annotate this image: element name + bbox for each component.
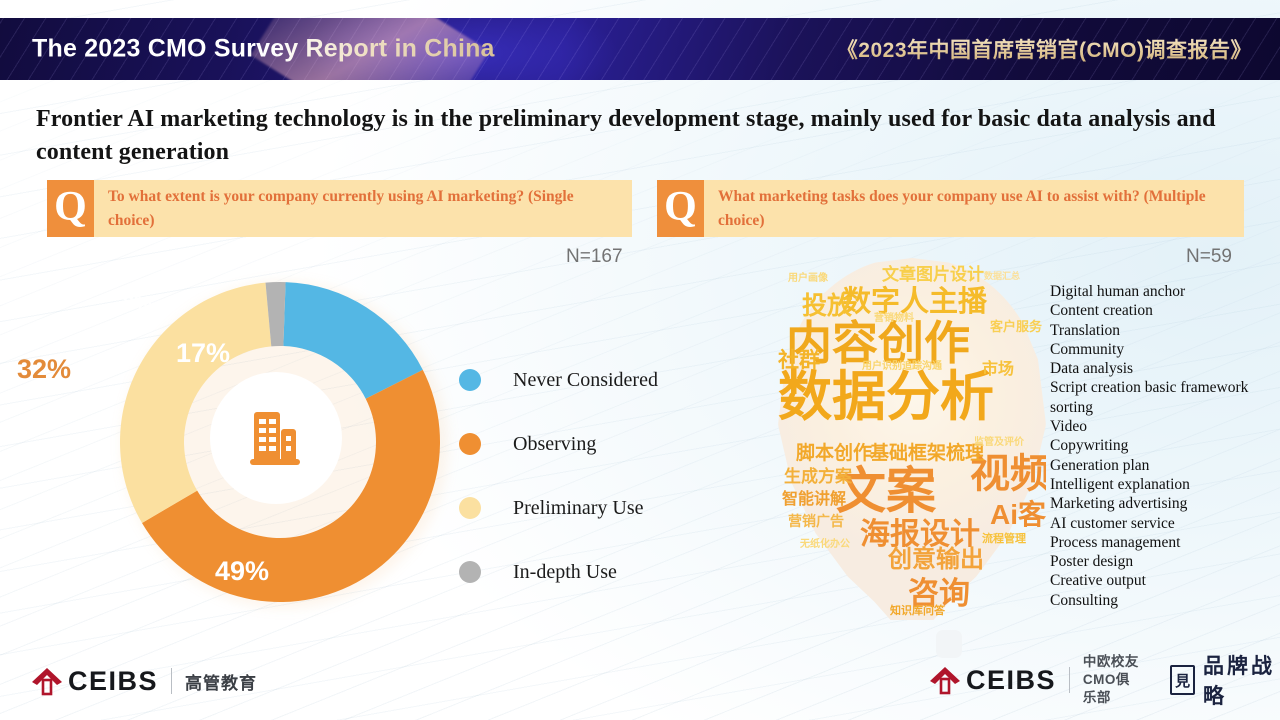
wordcloud-word: Ai客服 (990, 501, 1046, 529)
legend-label: Preliminary Use (513, 497, 644, 520)
translation-item: Content creation (1050, 301, 1280, 320)
translation-item: Script creation basic framework (1050, 378, 1280, 397)
donut-center-hole (210, 372, 342, 504)
translation-item: Data analysis (1050, 359, 1280, 378)
wordcloud-word: 文章图片设计 (882, 266, 984, 283)
question-banner-1: Q To what extent is your company current… (47, 180, 632, 237)
ceibs-wordmark-left: CEIBS (68, 666, 158, 697)
question-text-2: What marketing tasks does your company u… (704, 180, 1244, 237)
wordcloud-word: 知识库问答 (890, 606, 945, 617)
slide-root: The 2023 CMO Survey Report in China 《202… (0, 0, 1280, 720)
translation-item: Community (1050, 340, 1280, 359)
wordcloud-word: 营销广告 (788, 514, 844, 528)
header-title-en: The 2023 CMO Survey Report in China (32, 35, 495, 64)
header-banner: The 2023 CMO Survey Report in China 《202… (0, 18, 1280, 80)
ceibs-roof-icon (928, 665, 962, 695)
wordcloud-word: 智能讲解 (782, 492, 846, 508)
sample-size-2: N=59 (1186, 246, 1232, 268)
wordcloud-word: 数据分析 (778, 370, 994, 424)
translation-item: Intelligent explanation (1050, 475, 1280, 494)
footer-decoration-square (936, 630, 962, 658)
donut-chart (100, 268, 460, 620)
footer-club-name: 中欧校友 CMO俱乐部 (1083, 653, 1143, 708)
legend-item-never-considered[interactable]: Never Considered (459, 348, 709, 412)
wordcloud-word: 监管及评价 (974, 438, 1024, 448)
translation-item: Consulting (1050, 591, 1280, 610)
sample-size-1: N=167 (566, 246, 623, 268)
translation-item: Copywriting (1050, 436, 1280, 455)
footer-divider-right (1069, 667, 1070, 693)
translation-item: Process management (1050, 533, 1280, 552)
wordcloud-word: 市场 (982, 362, 1014, 378)
translation-item: Poster design (1050, 552, 1280, 571)
wordcloud-word: 流程管理 (982, 534, 1026, 545)
footer-club-line1: 中欧校友 (1083, 653, 1143, 671)
legend-color-swatch (459, 369, 481, 391)
legend-label: Observing (513, 433, 596, 456)
slice-label-never-considered: 17% (176, 338, 230, 369)
wordcloud-word: 营销物料 (874, 314, 914, 324)
wordcloud-words: 内容创作数据分析文案数字人主播视频海报设计咨询创意输出Ai客服投放社群文章图片设… (778, 258, 1046, 620)
translation-item: Creative output (1050, 571, 1280, 590)
footer-club-line2: CMO俱乐部 (1083, 671, 1143, 707)
building-icon (240, 402, 312, 474)
legend-color-swatch (459, 561, 481, 583)
wordcloud-word: 客户服务 (990, 320, 1042, 333)
partner-logo-name: 品牌战略 (1203, 650, 1280, 710)
slice-label-observing: 49% (215, 556, 269, 587)
wordcloud-word: 数字人主播 (842, 288, 987, 317)
wordcloud-word: 用户画像 (788, 274, 828, 284)
slice-label-preliminary-use: 32% (17, 354, 71, 385)
wordcloud-word: 用户识别追踪沟通 (862, 362, 942, 372)
footer-logo-left: CEIBS 高管教育 (30, 661, 257, 701)
translation-item: sorting (1050, 398, 1280, 417)
ceibs-wordmark-right: CEIBS (966, 665, 1056, 696)
translation-item: Marketing advertising (1050, 494, 1280, 513)
translation-item: Digital human anchor (1050, 282, 1280, 301)
footer-divider-left (171, 668, 172, 694)
wordcloud-word: 数据汇总 (984, 272, 1020, 281)
translation-item: Generation plan (1050, 456, 1280, 475)
question-banner-2: Q What marketing tasks does your company… (657, 180, 1244, 237)
wordcloud-word: 脚本创作 (796, 444, 872, 463)
translation-item: AI customer service (1050, 514, 1280, 533)
wordcloud-translation-list: Digital human anchorContent creationTran… (1050, 282, 1280, 610)
ceibs-roof-icon (30, 666, 64, 696)
translation-item: Video (1050, 417, 1280, 436)
wordcloud-word: 创意输出 (888, 548, 984, 572)
wordcloud-word: 投放 (802, 294, 852, 319)
wordcloud-word: 无纸化办公 (800, 540, 850, 550)
wordcloud-word: 基础框架梳理 (870, 444, 984, 463)
translation-item: Translation (1050, 321, 1280, 340)
question-text-1: To what extent is your company currently… (94, 180, 632, 237)
wordcloud-word: 生成方案 (784, 468, 852, 485)
legend-label: Never Considered (513, 369, 658, 392)
chart-legend: Never ConsideredObservingPreliminary Use… (459, 348, 709, 604)
legend-item-in-depth-use[interactable]: In-depth Use (459, 540, 709, 604)
legend-label: In-depth Use (513, 561, 617, 584)
legend-color-swatch (459, 497, 481, 519)
partner-logo-mark: 見 (1170, 665, 1195, 695)
legend-color-swatch (459, 433, 481, 455)
wordcloud: 内容创作数据分析文案数字人主播视频海报设计咨询创意输出Ai客服投放社群文章图片设… (778, 258, 1046, 620)
slice-label-in-depth-use: 2% (123, 293, 152, 316)
wordcloud-word: 社群 (778, 350, 820, 371)
footer-logo-right: CEIBS 中欧校友 CMO俱乐部 見 品牌战略 (928, 658, 1280, 702)
legend-item-observing[interactable]: Observing (459, 412, 709, 476)
question-marker-icon: Q (47, 180, 94, 237)
question-marker-icon: Q (657, 180, 704, 237)
header-title-cn: 《2023年中国首席营销官(CMO)调查报告》 (837, 34, 1252, 64)
legend-item-preliminary-use[interactable]: Preliminary Use (459, 476, 709, 540)
page-title: Frontier AI marketing technology is in t… (36, 103, 1216, 169)
footer-subtitle-left: 高管教育 (185, 669, 257, 694)
